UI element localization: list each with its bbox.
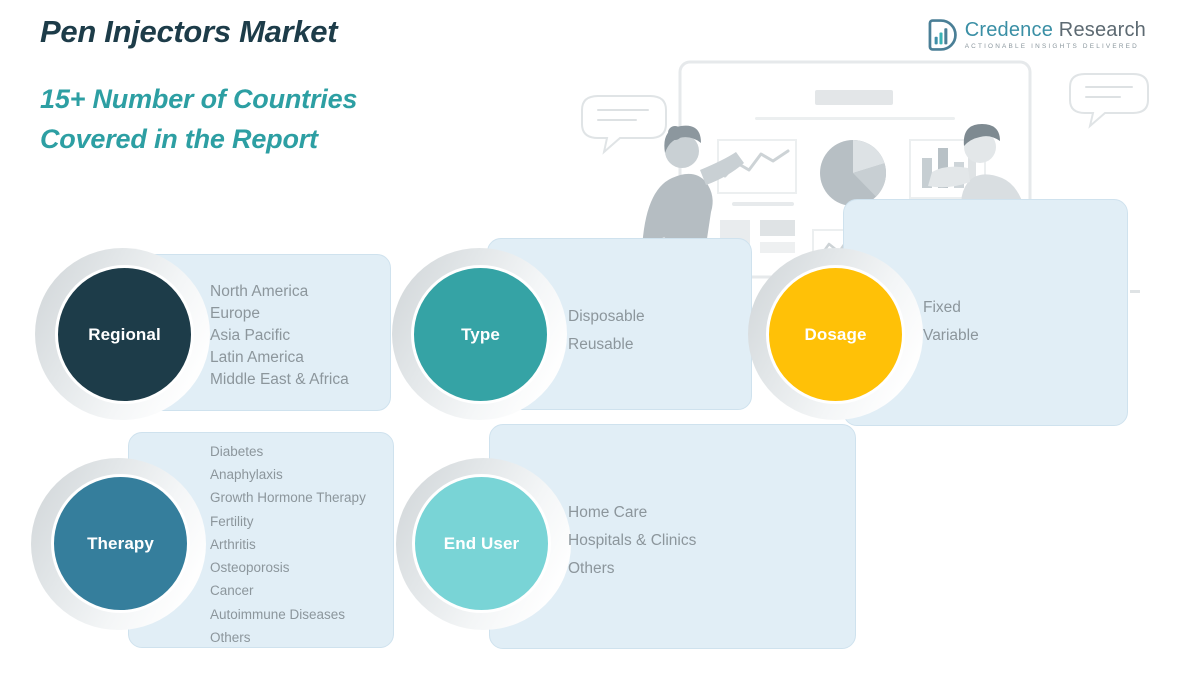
list-item: Middle East & Africa bbox=[210, 369, 349, 391]
list-item: Reusable bbox=[568, 331, 645, 359]
list-item: Others bbox=[210, 626, 366, 649]
list-item: Home Care bbox=[568, 499, 696, 527]
list-item: Anaphylaxis bbox=[210, 463, 366, 486]
card-circle-end-user[interactable]: End User bbox=[412, 474, 551, 613]
logo-text-block: Credence Research Actionable Insights De… bbox=[965, 20, 1146, 50]
page-title: Pen Injectors Market bbox=[40, 14, 337, 50]
card-circle-type[interactable]: Type bbox=[411, 265, 550, 404]
bar-chart-circle-logo-icon bbox=[924, 18, 958, 52]
card-label-end-user: End User bbox=[444, 534, 519, 554]
therapy-item-list: Diabetes Anaphylaxis Growth Hormone Ther… bbox=[210, 440, 366, 649]
list-item: Europe bbox=[210, 303, 349, 325]
end-user-item-list: Home Care Hospitals & Clinics Others bbox=[568, 499, 696, 584]
card-label-dosage: Dosage bbox=[804, 325, 866, 345]
list-item: Latin America bbox=[210, 347, 349, 369]
list-item: Osteoporosis bbox=[210, 556, 366, 579]
list-item: Diabetes bbox=[210, 440, 366, 463]
list-item: Asia Pacific bbox=[210, 325, 349, 347]
card-label-regional: Regional bbox=[88, 325, 161, 345]
list-item: Hospitals & Clinics bbox=[568, 527, 696, 555]
brand-logo: Credence Research Actionable Insights De… bbox=[924, 18, 1146, 52]
list-item: Arthritis bbox=[210, 533, 366, 556]
dosage-item-list: Fixed Variable bbox=[923, 294, 979, 350]
list-item: Cancer bbox=[210, 579, 366, 602]
logo-name-secondary: Research bbox=[1059, 19, 1146, 41]
list-item: Others bbox=[568, 555, 696, 583]
card-circle-dosage[interactable]: Dosage bbox=[766, 265, 905, 404]
logo-name-primary: Credence bbox=[965, 19, 1053, 41]
list-item: Autoimmune Diseases bbox=[210, 603, 366, 626]
list-item: Variable bbox=[923, 322, 979, 350]
subtitle-line-2: Covered in the Report bbox=[40, 120, 357, 160]
card-label-therapy: Therapy bbox=[87, 534, 154, 554]
list-item: Fertility bbox=[210, 510, 366, 533]
card-circle-regional[interactable]: Regional bbox=[55, 265, 194, 404]
list-item: Fixed bbox=[923, 294, 979, 322]
logo-tagline: Actionable Insights Delivered bbox=[965, 44, 1146, 50]
logo-name: Credence Research bbox=[965, 20, 1146, 40]
list-item: Growth Hormone Therapy bbox=[210, 486, 366, 509]
page-subtitle: 15+ Number of Countries Covered in the R… bbox=[40, 80, 357, 159]
list-item: North America bbox=[210, 281, 349, 303]
infographic-canvas: Pen Injectors Market 15+ Number of Count… bbox=[0, 0, 1182, 687]
regional-item-list: North America Europe Asia Pacific Latin … bbox=[210, 281, 349, 391]
subtitle-line-1: 15+ Number of Countries bbox=[40, 80, 357, 120]
card-circle-therapy[interactable]: Therapy bbox=[51, 474, 190, 613]
card-label-type: Type bbox=[461, 325, 500, 345]
type-item-list: Disposable Reusable bbox=[568, 303, 645, 359]
list-item: Disposable bbox=[568, 303, 645, 331]
